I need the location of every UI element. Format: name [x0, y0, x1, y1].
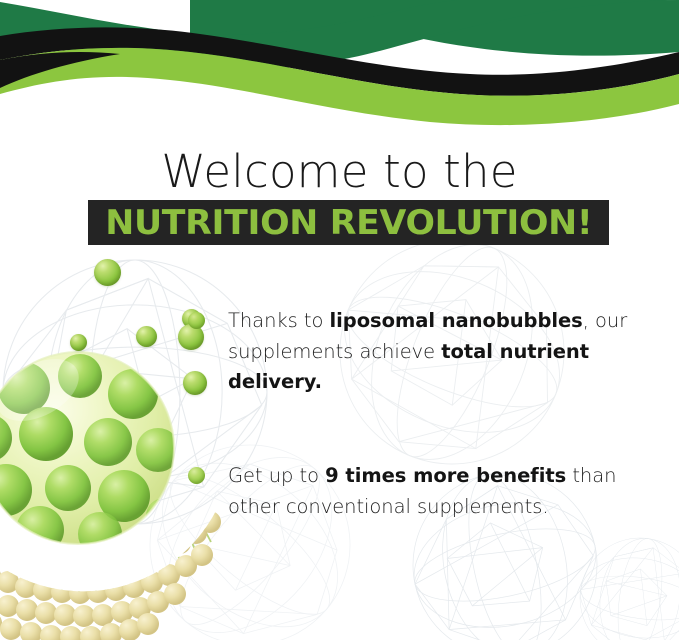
liposome-nanobubble-illustration — [0, 330, 238, 640]
lipid-bilayer-heads — [0, 511, 221, 640]
lipid-bilayer-tails — [0, 426, 211, 593]
bullet-dot-icon — [188, 467, 205, 484]
headline-block: Welcome to the — [0, 146, 679, 198]
ribbon-band-black — [0, 27, 679, 95]
ribbon-band-dark-green — [190, 0, 679, 62]
bullet-segment-bold: liposomal nanobubbles — [330, 309, 583, 332]
liposome-core — [0, 346, 182, 556]
ribbon-band-dark-green-2 — [0, 0, 679, 70]
page-title-welcome: Welcome to the — [0, 146, 679, 198]
headline-banner: NUTRITION REVOLUTION! — [88, 200, 609, 245]
bullet-dot-icon — [188, 312, 205, 329]
infographic-page: Welcome to the NUTRITION REVOLUTION! — [0, 0, 679, 640]
bullet-segment-bold: 9 times more benefits — [325, 464, 566, 487]
bullet-segment: Get up to — [228, 464, 325, 487]
decorative-wave-ribbon — [0, 0, 679, 130]
ribbon-tip-black — [0, 52, 120, 88]
nanobubble — [70, 334, 87, 351]
bullet-list: Thanks to liposomal nanobubbles, our sup… — [0, 0, 679, 640]
page-title-banner: NUTRITION REVOLUTION! — [105, 206, 592, 240]
nanobubble — [136, 326, 157, 347]
bullet-segment: Thanks to — [228, 309, 330, 332]
nanobubble — [183, 371, 207, 395]
nanobubble — [94, 259, 121, 286]
bullet-text-liposomal: Thanks to liposomal nanobubbles, our sup… — [228, 306, 628, 398]
bullet-text-benefits: Get up to 9 times more benefits than oth… — [228, 461, 628, 522]
ribbon-band-light-green — [0, 48, 679, 125]
encapsulated-nanobubbles — [0, 354, 182, 556]
